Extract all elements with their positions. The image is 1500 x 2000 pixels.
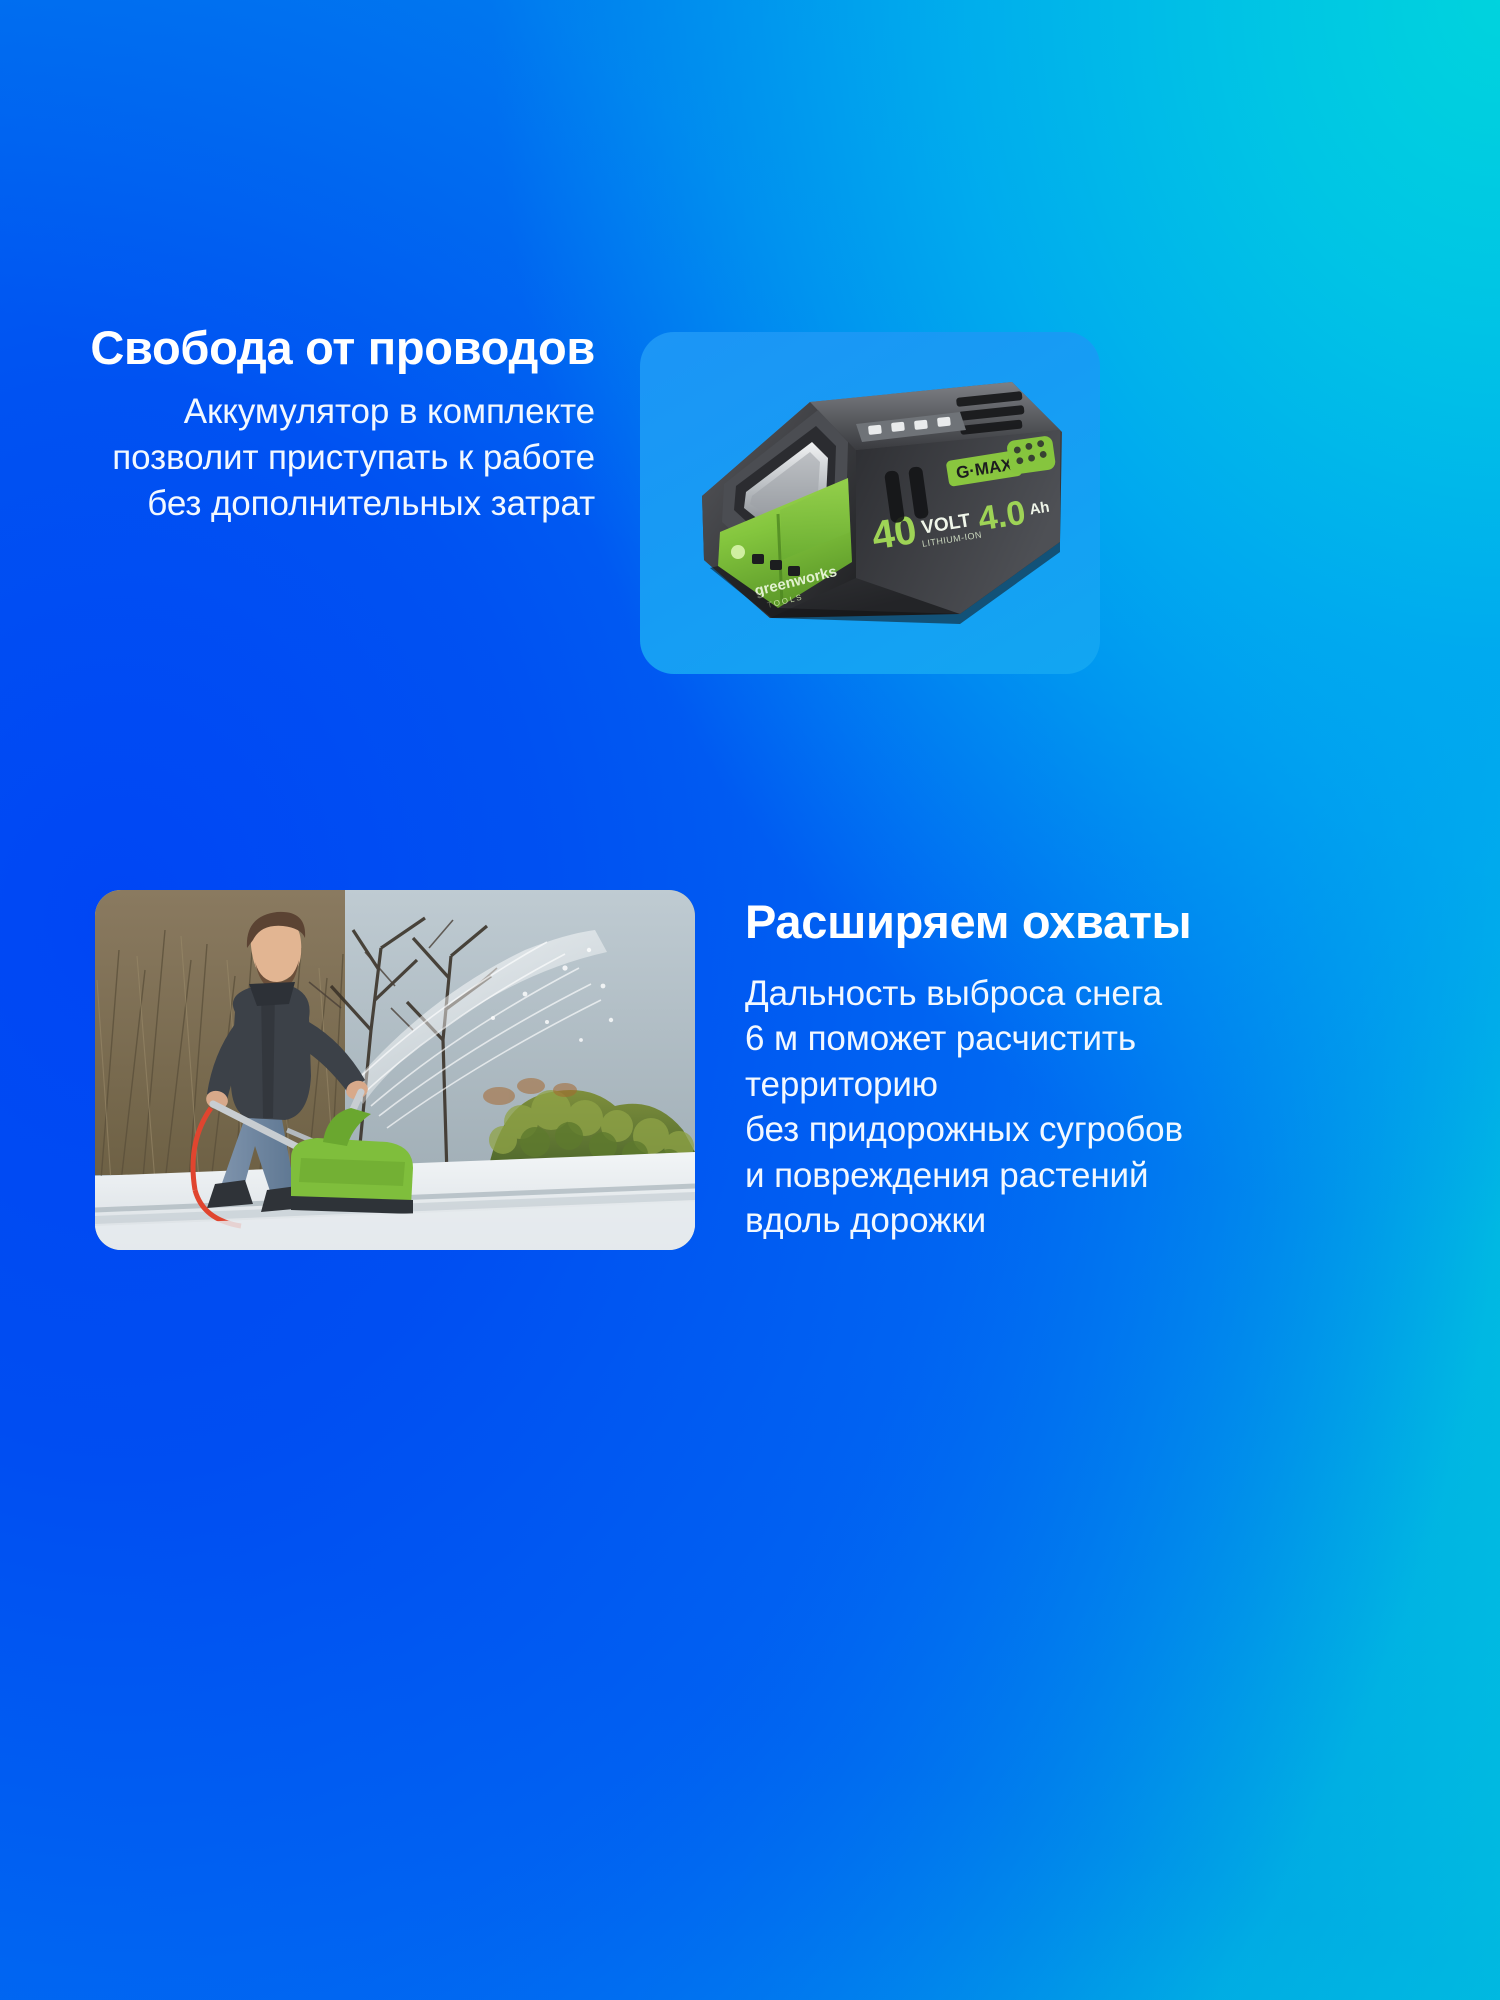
section-1-text-block: Свобода от проводов Аккумулятор в компле… bbox=[65, 322, 595, 527]
section-1-body-line-1: Аккумулятор в комплекте bbox=[65, 389, 595, 435]
section-2-heading: Расширяем охваты bbox=[745, 896, 1385, 949]
section-1-heading: Свобода от проводов bbox=[65, 322, 595, 375]
section-1-body-line-3: без дополнительных затрат bbox=[65, 481, 595, 527]
section-2-body: Дальность выброса снега 6 м поможет расч… bbox=[745, 971, 1385, 1244]
section-1-body: Аккумулятор в комплекте позволит приступ… bbox=[65, 389, 595, 528]
section-extended-reach: Расширяем охваты Дальность выброса снега… bbox=[0, 890, 1500, 1330]
section-cordless-freedom: Свобода от проводов Аккумулятор в компле… bbox=[0, 300, 1500, 720]
section-2-body-line-2: 6 м поможет расчистить bbox=[745, 1016, 1385, 1062]
section-1-body-line-2: позволит приступать к работе bbox=[65, 435, 595, 481]
section-2-body-line-6: вдоль дорожки bbox=[745, 1198, 1385, 1244]
section-2-body-line-4: без придорожных сугробов bbox=[745, 1107, 1385, 1153]
battery-image: greenworks TOOLS G·MAX 40 VOLT LITHIUM-I… bbox=[660, 346, 1090, 656]
svg-text:4.0: 4.0 bbox=[976, 494, 1029, 539]
section-2-body-line-5: и повреждения растений bbox=[745, 1153, 1385, 1199]
section-2-body-line-1: Дальность выброса снега bbox=[745, 971, 1385, 1017]
section-2-body-line-3: территорию bbox=[745, 1062, 1385, 1108]
svg-text:Ah: Ah bbox=[1028, 499, 1050, 519]
battery-product-card: greenworks TOOLS G·MAX 40 VOLT LITHIUM-I… bbox=[640, 332, 1100, 674]
snow-thrower-photo-card bbox=[95, 890, 695, 1250]
section-2-text-block: Расширяем охваты Дальность выброса снега… bbox=[745, 896, 1385, 1244]
